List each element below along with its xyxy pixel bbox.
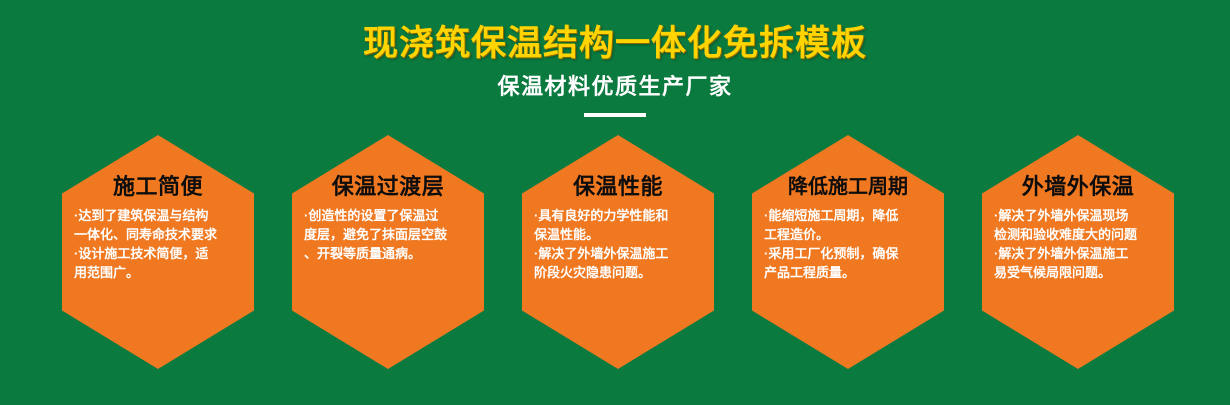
feature-hexagon-row: 施工简便 ·达到了建筑保温与结构 一体化、同寿命技术要求 ·设计施工技术简便，适… [0,135,1230,371]
feature-body-line: ·设计施工技术简便，适 [74,244,242,263]
feature-body-line: ·达到了建筑保温与结构 [74,206,242,225]
feature-body-line: ·创造性的设置了保温过 [304,206,472,225]
feature-body-line: 、开裂等质量通病。 [304,244,472,263]
banner-header: 现浇筑保温结构一体化免拆模板 保温材料优质生产厂家 [0,0,1230,117]
feature-title: 保温过渡层 [300,173,476,201]
feature-body-line: ·解决了外墙外保温现场 [994,206,1162,225]
feature-body-line: 产品工程质量。 [764,263,932,282]
feature-body-line: ·能缩短施工周期，降低 [764,206,932,225]
promo-banner: 现浇筑保温结构一体化免拆模板 保温材料优质生产厂家 施工简便 ·达到了建筑保温与… [0,0,1230,405]
feature-body-line: ·采用工厂化预制，确保 [764,244,932,263]
feature-body-line: 用范围广。 [74,263,242,282]
feature-body: ·达到了建筑保温与结构 一体化、同寿命技术要求 ·设计施工技术简便，适 用范围广… [70,206,246,282]
feature-body: ·解决了外墙外保温现场 检测和验收难度大的问题 ·解决了外墙外保温施工 易受气候… [990,206,1166,282]
feature-body-line: 度层，避免了抹面层空鼓 [304,225,472,244]
feature-body: ·具有良好的力学性能和 保温性能。 ·解决了外墙外保温施工 阶段火灾隐患问题。 [530,206,706,282]
feature-title: 施工简便 [70,173,246,201]
feature-body-line: 一体化、同寿命技术要求 [74,225,242,244]
feature-content: 施工简便 ·达到了建筑保温与结构 一体化、同寿命技术要求 ·设计施工技术简便，适… [62,135,254,369]
feature-hexagon-1[interactable]: 施工简便 ·达到了建筑保温与结构 一体化、同寿命技术要求 ·设计施工技术简便，适… [62,135,254,369]
feature-body: ·能缩短施工周期，降低 工程造价。 ·采用工厂化预制，确保 产品工程质量。 [760,206,936,282]
feature-content: 外墙外保温 ·解决了外墙外保温现场 检测和验收难度大的问题 ·解决了外墙外保温施… [982,135,1174,369]
page-subtitle: 保温材料优质生产厂家 [0,66,1230,102]
feature-hexagon-5[interactable]: 外墙外保温 ·解决了外墙外保温现场 检测和验收难度大的问题 ·解决了外墙外保温施… [982,135,1174,369]
feature-body-line: ·具有良好的力学性能和 [534,206,702,225]
page-title: 现浇筑保温结构一体化免拆模板 [0,0,1230,66]
feature-title: 降低施工周期 [760,173,936,201]
feature-body-line: 工程造价。 [764,225,932,244]
feature-hexagon-3[interactable]: 保温性能 ·具有良好的力学性能和 保温性能。 ·解决了外墙外保温施工 阶段火灾隐… [522,135,714,369]
feature-body: ·创造性的设置了保温过 度层，避免了抹面层空鼓 、开裂等质量通病。 [300,206,476,263]
feature-content: 保温过渡层 ·创造性的设置了保温过 度层，避免了抹面层空鼓 、开裂等质量通病。 [292,135,484,369]
feature-body-line: ·解决了外墙外保温施工 [534,244,702,263]
feature-body-line: 易受气候局限问题。 [994,263,1162,282]
feature-body-line: 阶段火灾隐患问题。 [534,263,702,282]
feature-body-line: ·解决了外墙外保温施工 [994,244,1162,263]
title-divider [584,113,646,117]
feature-body-line: 保温性能。 [534,225,702,244]
feature-content: 保温性能 ·具有良好的力学性能和 保温性能。 ·解决了外墙外保温施工 阶段火灾隐… [522,135,714,369]
feature-body-line: 检测和验收难度大的问题 [994,225,1162,244]
feature-title: 保温性能 [530,173,706,201]
feature-title: 外墙外保温 [990,173,1166,201]
feature-hexagon-4[interactable]: 降低施工周期 ·能缩短施工周期，降低 工程造价。 ·采用工厂化预制，确保 产品工… [752,135,944,369]
feature-hexagon-2[interactable]: 保温过渡层 ·创造性的设置了保温过 度层，避免了抹面层空鼓 、开裂等质量通病。 [292,135,484,369]
feature-content: 降低施工周期 ·能缩短施工周期，降低 工程造价。 ·采用工厂化预制，确保 产品工… [752,135,944,369]
